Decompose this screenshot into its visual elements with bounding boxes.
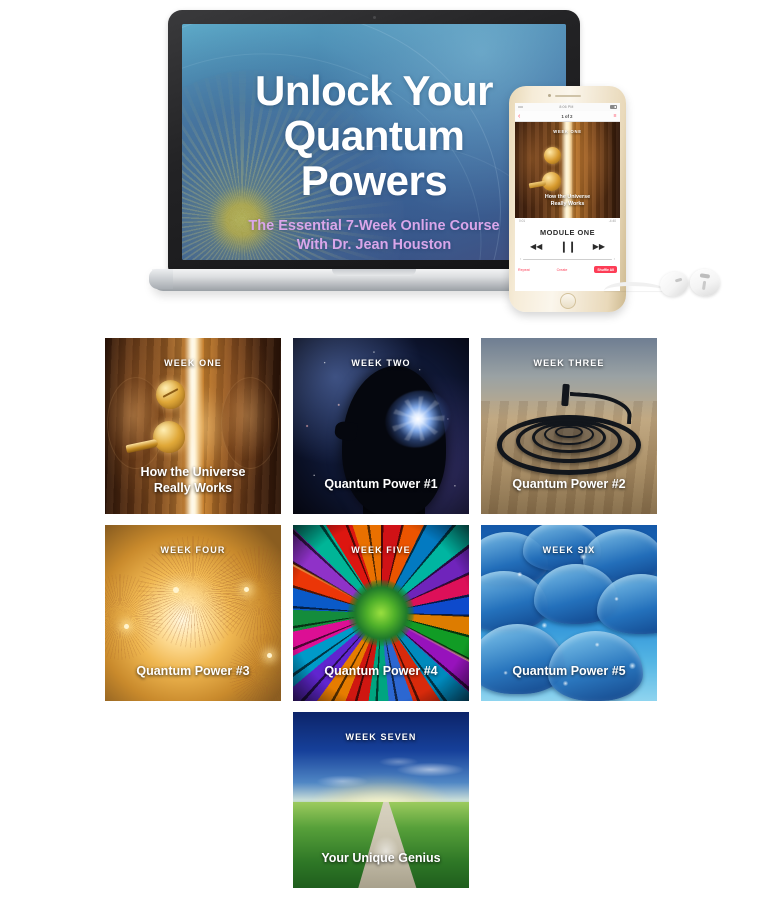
hero-devices: Unlock Your Quantum Powers The Essential… [0, 0, 762, 330]
playback-controls: ◀◀ ❙❙ ▶▶ [515, 243, 620, 251]
earpods-mockup [618, 262, 748, 310]
hero-title-line-2: Quantum [200, 113, 548, 158]
volume-low-icon: ▪ [520, 257, 521, 261]
card-row-1: WEEK ONE How the Universe Really Works W… [0, 338, 762, 514]
card-week-label: WEEK THREE [481, 358, 657, 368]
course-card-week-three[interactable]: WEEK THREE Quantum Power #2 [481, 338, 657, 514]
door-knob-lower [153, 421, 185, 453]
card-row-3: WEEK SEVEN Your Unique Genius [0, 712, 762, 888]
card-week-label: WEEK SIX [481, 545, 657, 555]
volume-high-icon: ▪ [614, 257, 615, 261]
album-title: How the Universe Really Works [515, 194, 620, 208]
earbud-right [688, 267, 721, 298]
earpiece-speaker [555, 95, 581, 97]
status-time: 8:06 PM [559, 105, 573, 109]
track-counter: 1 of 2 [562, 114, 573, 119]
course-card-grid: WEEK ONE How the Universe Really Works W… [0, 330, 762, 888]
course-card-week-six[interactable]: WEEK SIX Quantum Power #5 [481, 525, 657, 701]
battery-indicator [610, 105, 617, 109]
earbud-left [657, 269, 691, 300]
hero-subtitle: The Essential 7-Week Online Course With … [200, 217, 548, 255]
album-title-line-2: Really Works [515, 201, 620, 208]
hero-subtitle-line-1: The Essential 7-Week Online Course [200, 217, 548, 236]
fast-forward-icon[interactable]: ▶▶ [593, 243, 605, 251]
card-week-label: WEEK TWO [293, 358, 469, 368]
card-title: Quantum Power #4 [293, 663, 469, 679]
card-title: Quantum Power #2 [481, 476, 657, 492]
course-card-week-two[interactable]: WEEK TWO Quantum Power #1 [293, 338, 469, 514]
phone-screen: ••••• 8:06 PM ‹ 1 of 2 ≡ WEEK ONE [515, 103, 620, 291]
earpods-cable [604, 282, 666, 291]
pause-icon[interactable]: ❙❙ [559, 243, 575, 251]
laptop-foot [149, 269, 173, 289]
ios-nav-bar: ‹ 1 of 2 ≡ [515, 111, 620, 122]
dandelion-core-2 [124, 624, 129, 629]
rewind-icon[interactable]: ◀◀ [530, 243, 542, 251]
card-title: Quantum Power #1 [293, 476, 469, 492]
hero-title-line-3: Powers [200, 158, 548, 203]
volume-track[interactable] [523, 259, 612, 260]
dandelion-core-3 [244, 587, 249, 592]
module-title: MODULE ONE [515, 228, 620, 237]
album-week-label: WEEK ONE [515, 129, 620, 134]
elapsed-time: 0:01 [519, 219, 525, 223]
card-title-line-2: Really Works [113, 480, 273, 496]
front-camera-icon [548, 94, 551, 97]
battery-icon [610, 105, 617, 109]
spring-tip [561, 384, 570, 406]
player-actions: Repeat Create Shuffle All [518, 266, 617, 273]
card-week-label: WEEK FIVE [293, 545, 469, 555]
volume-slider[interactable]: ▪ ▪ [520, 257, 615, 261]
shuffle-all-button[interactable]: Shuffle All [594, 266, 617, 273]
signal-icon: ••••• [518, 105, 523, 109]
phone-mockup: ••••• 8:06 PM ‹ 1 of 2 ≡ WEEK ONE [509, 86, 626, 312]
card-title-line-1: How the Universe [113, 464, 273, 480]
card-week-label: WEEK SEVEN [293, 732, 469, 742]
card-title: How the Universe Really Works [105, 464, 281, 496]
course-card-week-seven[interactable]: WEEK SEVEN Your Unique Genius [293, 712, 469, 888]
album-artwork: WEEK ONE How the Universe Really Works [515, 122, 620, 218]
album-title-line-1: How the Universe [515, 194, 620, 201]
repeat-button[interactable]: Repeat [518, 268, 530, 272]
dandelion-core-1 [173, 587, 179, 593]
card-title: Your Unique Genius [293, 850, 469, 866]
hero-title: Unlock Your Quantum Powers [200, 68, 548, 203]
back-chevron-icon[interactable]: ‹ [518, 113, 520, 120]
hero-subtitle-line-2: With Dr. Jean Houston [200, 236, 548, 255]
card-week-label: WEEK ONE [105, 358, 281, 368]
card-week-label: WEEK FOUR [105, 545, 281, 555]
hero-title-line-1: Unlock Your [200, 68, 548, 113]
remaining-time: -4:40 [609, 219, 616, 223]
scrubber-times: 0:01 -4:40 [515, 218, 620, 223]
door-carving-right [221, 377, 279, 469]
card-title: Quantum Power #5 [481, 663, 657, 679]
card-title: Quantum Power #3 [105, 663, 281, 679]
course-card-week-four[interactable]: WEEK FOUR Quantum Power #3 [105, 525, 281, 701]
playlist-icon[interactable]: ≡ [614, 113, 617, 119]
course-card-week-one[interactable]: WEEK ONE How the Universe Really Works [105, 338, 281, 514]
create-button[interactable]: Create [557, 268, 568, 272]
webcam-icon [373, 16, 376, 19]
home-button[interactable] [560, 293, 576, 309]
card-row-2: WEEK FOUR Quantum Power #3 WEEK FIVE Qua… [0, 525, 762, 701]
ios-status-bar: ••••• 8:06 PM [515, 103, 620, 111]
promo-page: Unlock Your Quantum Powers The Essential… [0, 0, 762, 900]
course-card-week-five[interactable]: WEEK FIVE Quantum Power #4 [293, 525, 469, 701]
